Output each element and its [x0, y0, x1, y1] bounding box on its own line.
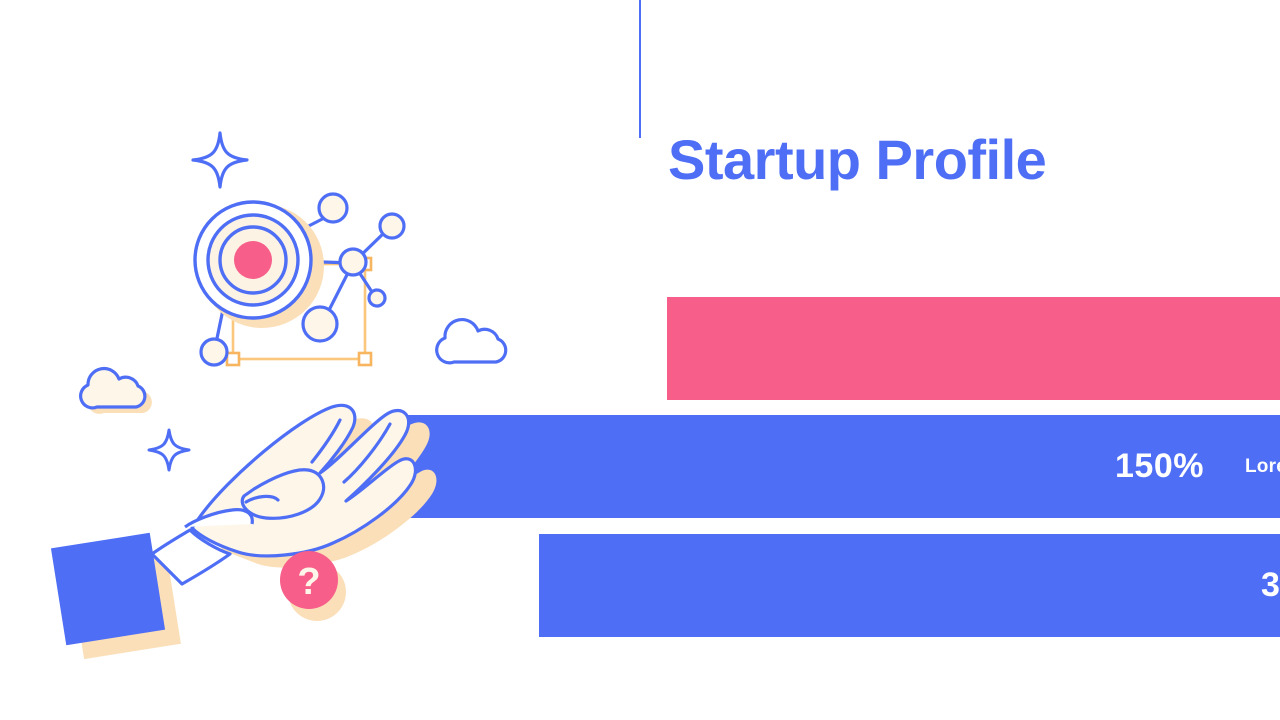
bullseye-target-icon [195, 202, 311, 318]
stat-bar-1[interactable]: 20K Lorem ipsum dolor [667, 297, 1280, 400]
stat-bar-3[interactable]: 33,8 Lorem ipsum dolor [539, 534, 1280, 637]
title-vertical-rule [639, 0, 641, 138]
stat-value: 33,8 [1261, 566, 1280, 605]
question-badge-text: ? [297, 561, 320, 603]
cloud-outline-icon [437, 320, 506, 363]
startup-illustration: ? [40, 90, 560, 670]
cloud-icon [81, 369, 152, 414]
stat-label: Lorem ipsum dolor [1245, 456, 1280, 478]
slide-root: Startup Profile 20K Lorem ipsum dolor 15… [0, 0, 1280, 720]
question-badge-icon[interactable]: ? [280, 551, 346, 621]
hand-sleeve [51, 533, 165, 645]
page-title: Startup Profile [668, 129, 1046, 191]
stat-value: 150% [1115, 447, 1204, 486]
sparkle-small-icon [149, 430, 189, 470]
sparkle-icon [193, 133, 247, 187]
